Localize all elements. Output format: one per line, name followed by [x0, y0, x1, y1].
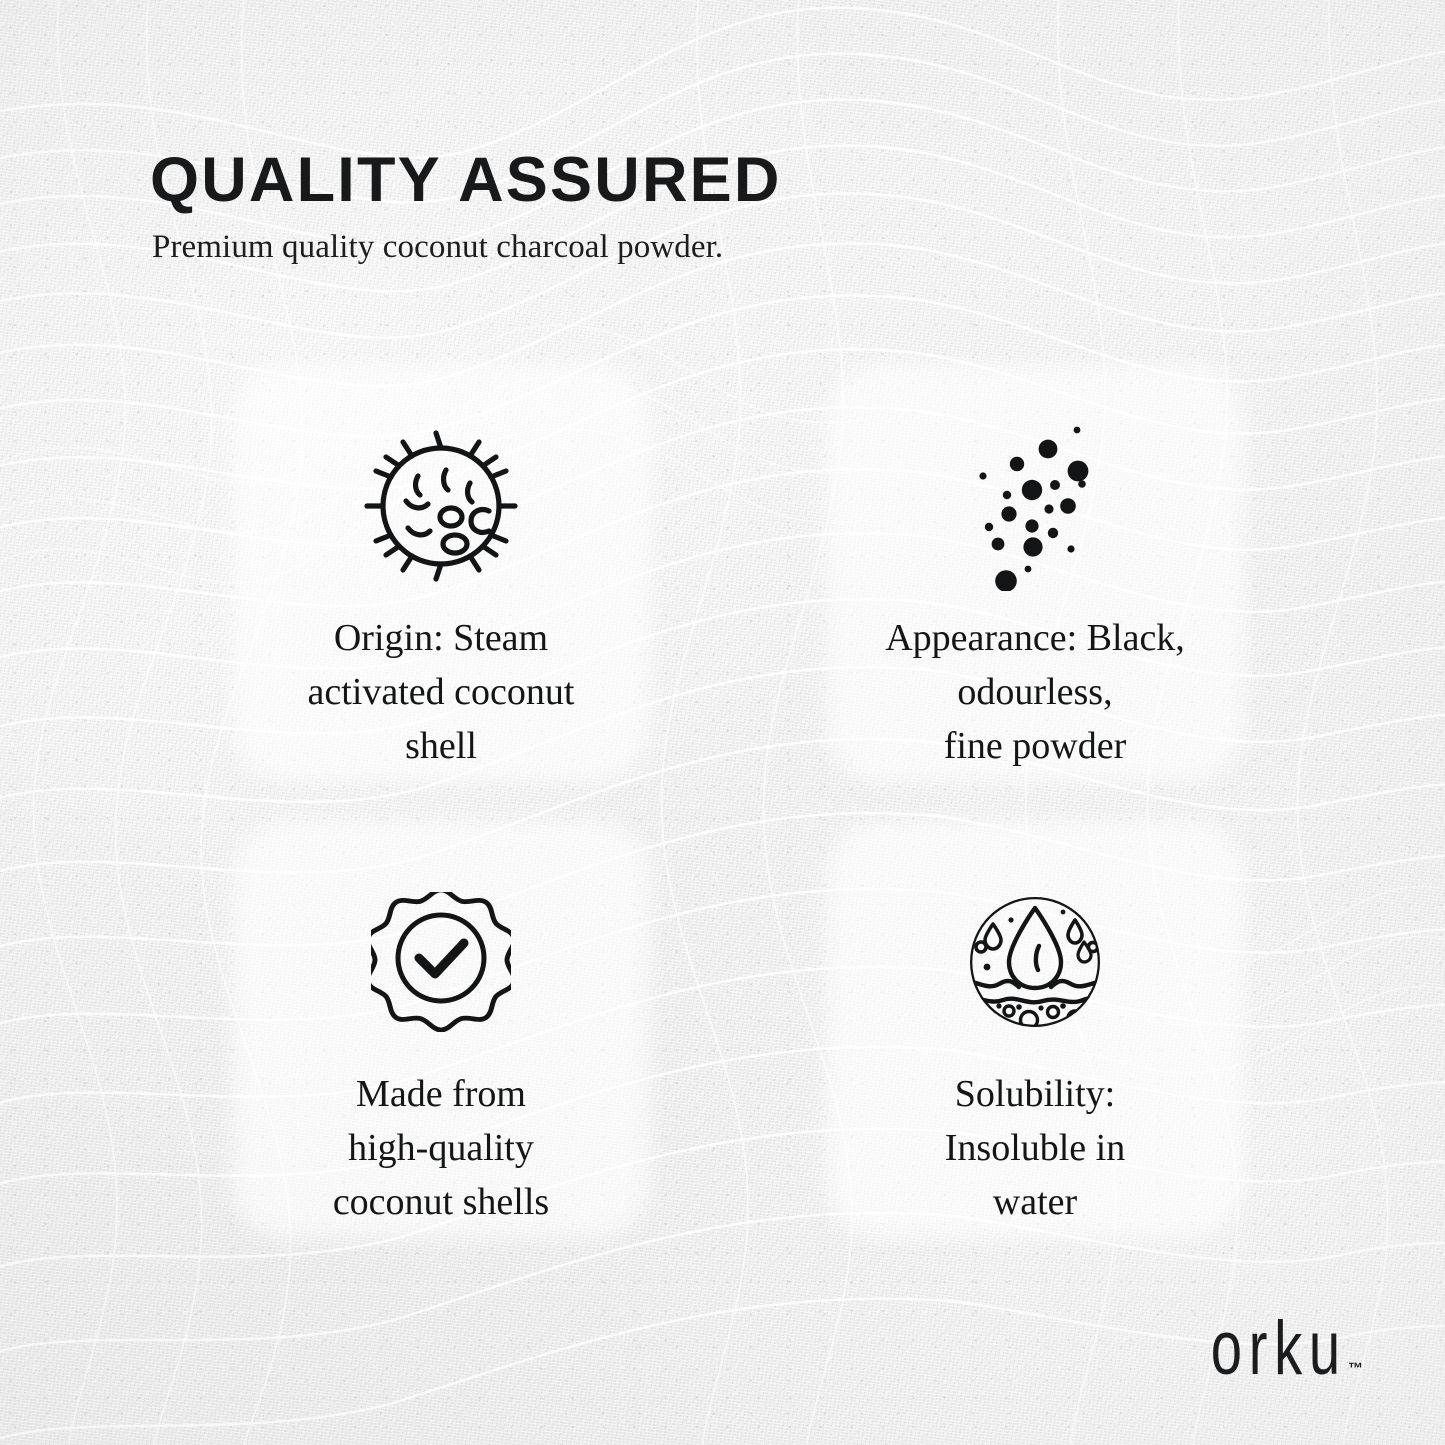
feature-card-appearance: Appearance: Black, odourless, fine powde… [832, 370, 1238, 776]
brand-name: orku [1211, 1315, 1347, 1383]
feature-card-label: Made from high-quality coconut shells [333, 1068, 549, 1230]
fine-powder-dots-icon [960, 406, 1110, 606]
feature-card-quality: Made from high-quality coconut shells [238, 826, 644, 1232]
feature-card-label: Origin: Steam activated coconut shell [308, 612, 575, 774]
quality-assured-infographic: QUALITY ASSURED Premium quality coconut … [0, 0, 1445, 1445]
page-title: QUALITY ASSURED [150, 148, 1250, 214]
feature-card-grid: Origin: Steam activated coconut shell [238, 370, 1238, 1232]
feature-card-label: Appearance: Black, odourless, fine powde… [885, 612, 1185, 774]
trademark-symbol: ™ [1348, 1360, 1363, 1377]
header: QUALITY ASSURED Premium quality coconut … [150, 148, 1250, 267]
feature-card-origin: Origin: Steam activated coconut shell [238, 370, 644, 776]
coconut-shell-icon [362, 406, 520, 606]
brand-logo: orku ™ [1163, 1315, 1363, 1383]
page-subtitle: Premium quality coconut charcoal powder. [152, 228, 1250, 268]
quality-badge-check-icon [371, 862, 511, 1062]
water-droplet-sediment-icon [965, 862, 1105, 1062]
feature-card-solubility: Solubility: Insoluble in water [832, 826, 1238, 1232]
feature-card-label: Solubility: Insoluble in water [945, 1068, 1125, 1230]
